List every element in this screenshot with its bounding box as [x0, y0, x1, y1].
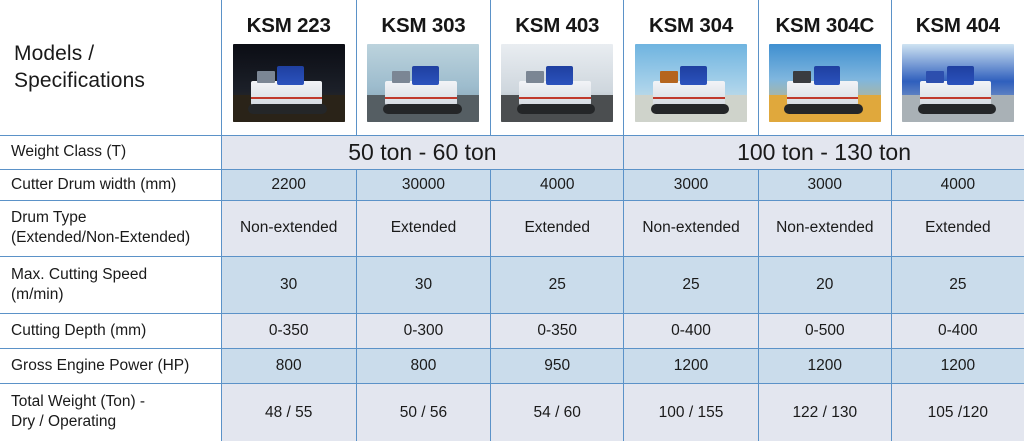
- ksm-223-photo: [233, 44, 345, 122]
- model-name-label: KSM 404: [892, 14, 1024, 38]
- ksm-303-photo: [367, 44, 479, 122]
- row-label-line2: Dry / Operating: [11, 412, 221, 432]
- model-name-label: KSM 303: [357, 14, 491, 38]
- cell-value: Non-extended: [624, 200, 759, 256]
- model-header-ksm-403: KSM 403: [491, 0, 624, 135]
- specifications-table: Models / Specifications KSM 223 KSM 303: [0, 0, 1024, 441]
- cell-value: 25: [624, 256, 759, 313]
- table-header-row: Models / Specifications KSM 223 KSM 303: [0, 0, 1024, 135]
- table-row-weight-class: Weight Class (T) 50 ton - 60 ton 100 ton…: [0, 135, 1024, 169]
- row-label-weight-class: Weight Class (T): [0, 135, 221, 169]
- table-row-max-cutting-speed: Max. Cutting Speed (m/min) 30 30 25 25 2…: [0, 256, 1024, 313]
- cell-value: Extended: [491, 200, 624, 256]
- ksm-304-photo: [635, 44, 747, 122]
- row-label-drum-type: Drum Type (Extended/Non-Extended): [0, 200, 221, 256]
- cell-value: 1200: [758, 348, 891, 383]
- cell-value: 0-350: [491, 313, 624, 348]
- cell-value: 50 / 56: [356, 383, 491, 441]
- cell-value: 800: [221, 348, 356, 383]
- cell-value: 25: [491, 256, 624, 313]
- weight-class-group-right: 100 ton - 130 ton: [624, 135, 1024, 169]
- cell-value: 0-400: [624, 313, 759, 348]
- cell-value: 0-350: [221, 313, 356, 348]
- row-label-line1: Total Weight (Ton) -: [11, 392, 221, 412]
- row-label-cutting-depth: Cutting Depth (mm): [0, 313, 221, 348]
- corner-label-line1: Models /: [14, 40, 221, 67]
- model-name-label: KSM 403: [491, 14, 623, 38]
- cell-value: 54 / 60: [491, 383, 624, 441]
- row-label-gross-engine-power: Gross Engine Power (HP): [0, 348, 221, 383]
- cell-value: Non-extended: [221, 200, 356, 256]
- table-row-gross-engine-power: Gross Engine Power (HP) 800 800 950 1200…: [0, 348, 1024, 383]
- cell-value: 2200: [221, 169, 356, 200]
- cell-value: 122 / 130: [758, 383, 891, 441]
- model-header-ksm-303: KSM 303: [356, 0, 491, 135]
- cell-value: 20: [758, 256, 891, 313]
- table-row-cutter-drum-width: Cutter Drum width (mm) 2200 30000 4000 3…: [0, 169, 1024, 200]
- weight-class-group-left: 50 ton - 60 ton: [221, 135, 623, 169]
- cell-value: Extended: [891, 200, 1024, 256]
- row-label-line2: (m/min): [11, 285, 221, 305]
- cell-value: 0-500: [758, 313, 891, 348]
- cell-value: Extended: [356, 200, 491, 256]
- corner-header-cell: Models / Specifications: [0, 0, 221, 135]
- cell-value: 4000: [491, 169, 624, 200]
- row-label-cutter-drum-width: Cutter Drum width (mm): [0, 169, 221, 200]
- row-label-line2: (Extended/Non-Extended): [11, 228, 221, 248]
- corner-label-line2: Specifications: [14, 67, 221, 94]
- cell-value: 3000: [624, 169, 759, 200]
- row-label-line1: Drum Type: [11, 208, 221, 228]
- table-row-drum-type: Drum Type (Extended/Non-Extended) Non-ex…: [0, 200, 1024, 256]
- row-label-total-weight: Total Weight (Ton) - Dry / Operating: [0, 383, 221, 441]
- cell-value: 1200: [624, 348, 759, 383]
- cell-value: 48 / 55: [221, 383, 356, 441]
- cell-value: 25: [891, 256, 1024, 313]
- ksm-404-photo: [902, 44, 1014, 122]
- cell-value: 100 / 155: [624, 383, 759, 441]
- row-label-line1: Max. Cutting Speed: [11, 265, 221, 285]
- cell-value: 4000: [891, 169, 1024, 200]
- model-header-ksm-304: KSM 304: [624, 0, 759, 135]
- cell-value: 105 /120: [891, 383, 1024, 441]
- model-name-label: KSM 304C: [759, 14, 891, 38]
- row-label-max-cutting-speed: Max. Cutting Speed (m/min): [0, 256, 221, 313]
- model-name-label: KSM 304: [624, 14, 758, 38]
- cell-value: 800: [356, 348, 491, 383]
- model-header-ksm-404: KSM 404: [891, 0, 1024, 135]
- cell-value: 3000: [758, 169, 891, 200]
- cell-value: 30: [221, 256, 356, 313]
- cell-value: 0-400: [891, 313, 1024, 348]
- ksm-403-photo: [501, 44, 613, 122]
- cell-value: 950: [491, 348, 624, 383]
- cell-value: 0-300: [356, 313, 491, 348]
- cell-value: Non-extended: [758, 200, 891, 256]
- cell-value: 30000: [356, 169, 491, 200]
- model-header-ksm-223: KSM 223: [221, 0, 356, 135]
- model-name-label: KSM 223: [222, 14, 356, 38]
- ksm-304c-photo: [769, 44, 881, 122]
- cell-value: 1200: [891, 348, 1024, 383]
- model-header-ksm-304c: KSM 304C: [758, 0, 891, 135]
- table-row-cutting-depth: Cutting Depth (mm) 0-350 0-300 0-350 0-4…: [0, 313, 1024, 348]
- table-row-total-weight: Total Weight (Ton) - Dry / Operating 48 …: [0, 383, 1024, 441]
- cell-value: 30: [356, 256, 491, 313]
